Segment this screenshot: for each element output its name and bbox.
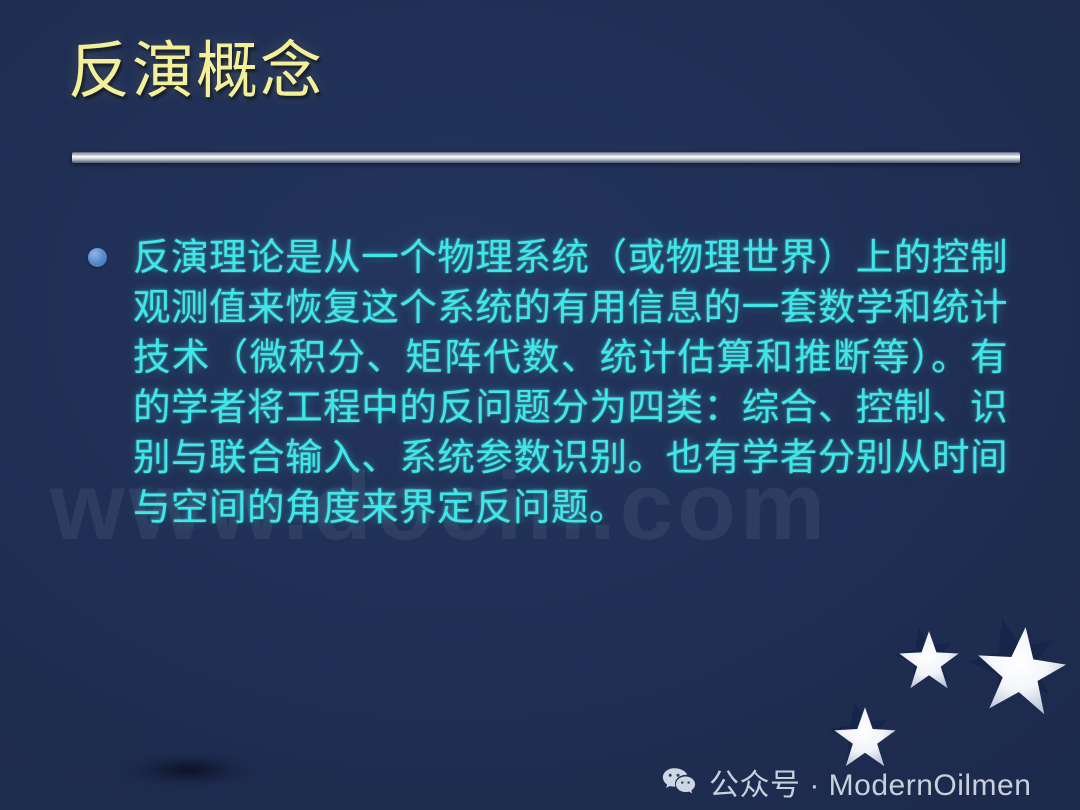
star-icon-small-top — [898, 630, 960, 692]
page-title: 反演概念 — [68, 36, 324, 105]
footer-account-name: 公众号 · ModernOilmen — [709, 760, 1031, 804]
bullet-point-icon — [88, 248, 107, 267]
footer-credit: 公众号 · ModernOilmen — [662, 760, 1031, 804]
body-paragraph-text: 反演理论是从一个物理系统（或物理世界）上的控制观测值来恢复这个系统的有用信息的一… — [133, 232, 1008, 532]
slide-canvas: 反演概念 www.docin.com 反演理论是从一个物理系统（或物理世界）上的… — [0, 0, 1080, 810]
wechat-icon — [662, 767, 696, 797]
title-divider-rule — [72, 152, 1020, 163]
star-icon-large — [975, 625, 1067, 717]
bullet-paragraph: 反演理论是从一个物理系统（或物理世界）上的控制观测值来恢复这个系统的有用信息的一… — [88, 232, 1008, 532]
blurred-logo-mark — [104, 742, 274, 798]
